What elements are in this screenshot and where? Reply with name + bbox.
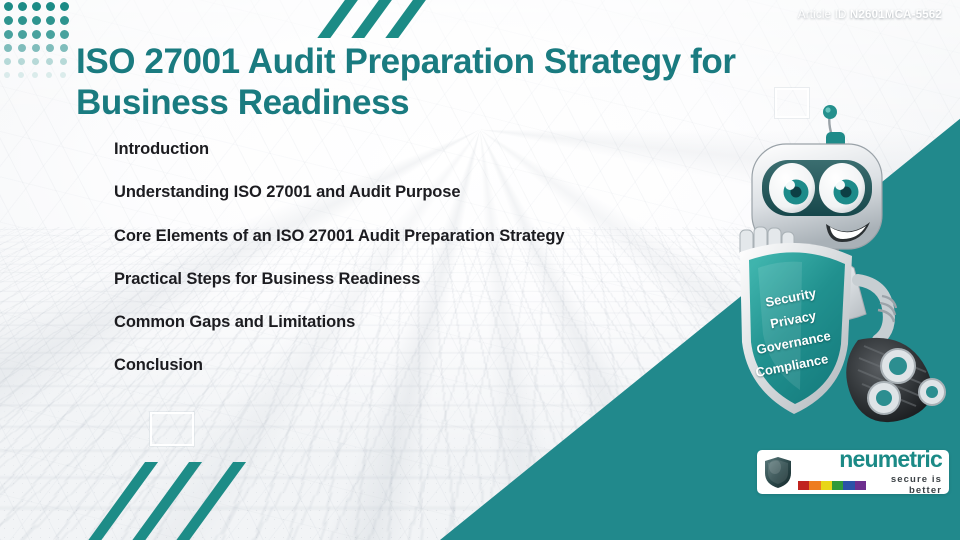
diagonal-stripes-top (330, 0, 450, 40)
rainbow-bar-icon (798, 481, 866, 490)
agenda-item-practical-steps[interactable]: Practical Steps for Business Readiness (114, 270, 714, 290)
agenda-item-introduction[interactable]: Introduction (114, 140, 714, 160)
neumetric-logo[interactable]: neumetric secure is better (757, 450, 949, 494)
article-id-value: N2601MCA-5562 (850, 9, 942, 21)
presentation-slide: Article ID N2601MCA-5562 ISO 27001 Audit… (0, 0, 960, 540)
logo-text-block: neumetric secure is better (798, 448, 942, 496)
diagonal-stripes-bottom (116, 462, 266, 540)
logo-wordmark: neumetric (839, 448, 942, 471)
robot-mascot-illustration (718, 104, 956, 424)
agenda-item-core-elements[interactable]: Core Elements of an ISO 27001 Audit Prep… (114, 227, 714, 247)
shield-icon (764, 456, 792, 489)
logo-tagline: secure is better (872, 474, 942, 496)
logo-tagline-row: secure is better (798, 474, 942, 496)
decorative-square-outline-left (150, 412, 194, 446)
agenda-item-common-gaps[interactable]: Common Gaps and Limitations (114, 313, 714, 333)
dot-grid-decoration (4, 2, 74, 86)
article-id: Article ID N2601MCA-5562 (798, 9, 942, 21)
agenda-list: Introduction Understanding ISO 27001 and… (114, 140, 714, 400)
article-id-label: Article ID (798, 9, 847, 21)
agenda-item-understanding[interactable]: Understanding ISO 27001 and Audit Purpos… (114, 183, 714, 203)
agenda-item-conclusion[interactable]: Conclusion (114, 356, 714, 376)
page-title: ISO 27001 Audit Preparation Strategy for… (76, 42, 816, 124)
